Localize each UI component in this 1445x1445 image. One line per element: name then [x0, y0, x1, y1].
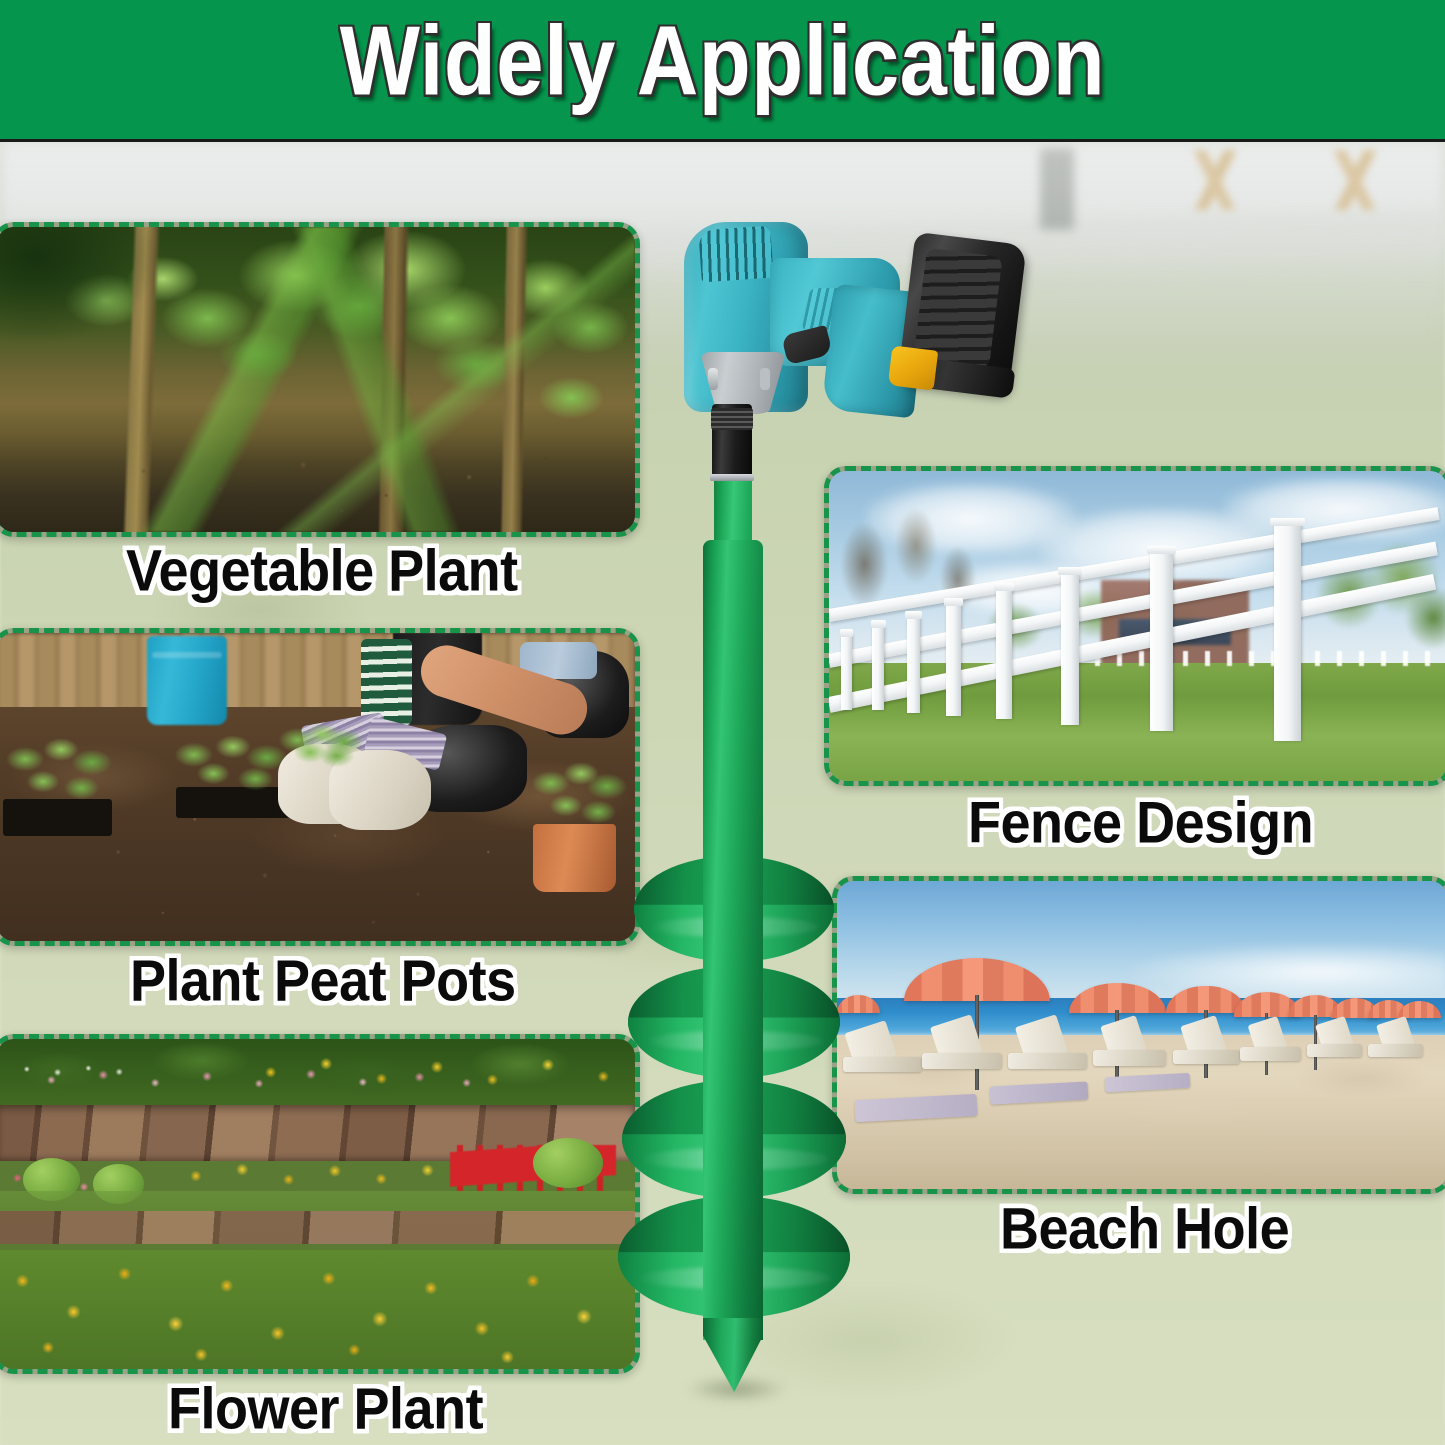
lounge-chair-icon — [1368, 1044, 1423, 1056]
blurred-post-icon — [1040, 148, 1074, 230]
vegetable-plant-scene-icon — [0, 227, 635, 532]
fence-post-icon — [872, 626, 884, 710]
fence-post-icon — [1274, 524, 1301, 741]
fence-post-icon — [841, 635, 852, 709]
marigold-bed-icon — [0, 1250, 635, 1369]
flower-garden-scene-icon — [0, 1039, 635, 1369]
yellow-flowers-icon — [239, 1049, 635, 1102]
caption-vegetable-plant: Vegetable Plant — [126, 538, 518, 605]
held-seedling-icon — [278, 725, 367, 768]
fence-scene-icon — [829, 471, 1445, 781]
photo-frame-flower-plant — [0, 1034, 640, 1374]
blurred-sawhorse-icon — [1160, 150, 1270, 210]
lounge-chair-icon — [843, 1057, 922, 1072]
page-title: Widely Application — [0, 5, 1445, 119]
photo-fence-design — [829, 471, 1445, 781]
lounge-chair-icon — [1093, 1050, 1166, 1065]
caption-flower-plant: Flower Plant — [168, 1376, 483, 1443]
caption-beach-hole: Beach Hole — [1000, 1196, 1289, 1263]
lounge-chair-icon — [1307, 1044, 1362, 1056]
beach-scene-icon — [837, 881, 1445, 1189]
photo-frame-vegetable-plant — [0, 222, 640, 537]
potted-plant-foliage-icon — [527, 756, 635, 836]
photo-flower-plant — [0, 1039, 635, 1369]
striped-sock-icon — [361, 639, 412, 725]
cloud-icon — [1130, 943, 1445, 998]
fence-post-icon — [907, 617, 920, 713]
blurred-sawhorse-icon — [1300, 150, 1410, 210]
lower-stone-wall-icon — [0, 1211, 635, 1244]
fence-post-icon — [1150, 552, 1172, 732]
header-banner: Widely Application — [0, 0, 1445, 142]
caption-plant-peat-pots: Plant Peat Pots — [130, 948, 516, 1015]
lounge-chair-icon — [1008, 1053, 1087, 1068]
fence-post-icon — [996, 589, 1012, 719]
photo-vegetable-plant — [0, 227, 635, 532]
lounge-chair-icon — [1240, 1047, 1301, 1061]
fence-post-icon — [946, 604, 960, 716]
photo-frame-beach-hole — [832, 876, 1445, 1194]
watering-can-icon — [147, 636, 227, 725]
lounge-chair-icon — [922, 1053, 1001, 1068]
photo-plant-peat-pots — [0, 633, 635, 941]
round-shrub-icon — [533, 1138, 603, 1188]
lounge-chair-icon — [1173, 1050, 1240, 1064]
peat-pots-scene-icon — [0, 633, 635, 941]
photo-frame-plant-peat-pots — [0, 628, 640, 946]
seedling-foliage-icon — [0, 732, 125, 812]
infographic-canvas: Widely Application Vegetable Plant — [0, 0, 1445, 1445]
photo-frame-fence-design — [824, 466, 1445, 786]
umbrella-pole-icon — [1314, 1015, 1317, 1070]
photo-beach-hole — [837, 881, 1445, 1189]
caption-fence-design: Fence Design — [968, 790, 1313, 857]
fence-post-icon — [1061, 573, 1080, 725]
